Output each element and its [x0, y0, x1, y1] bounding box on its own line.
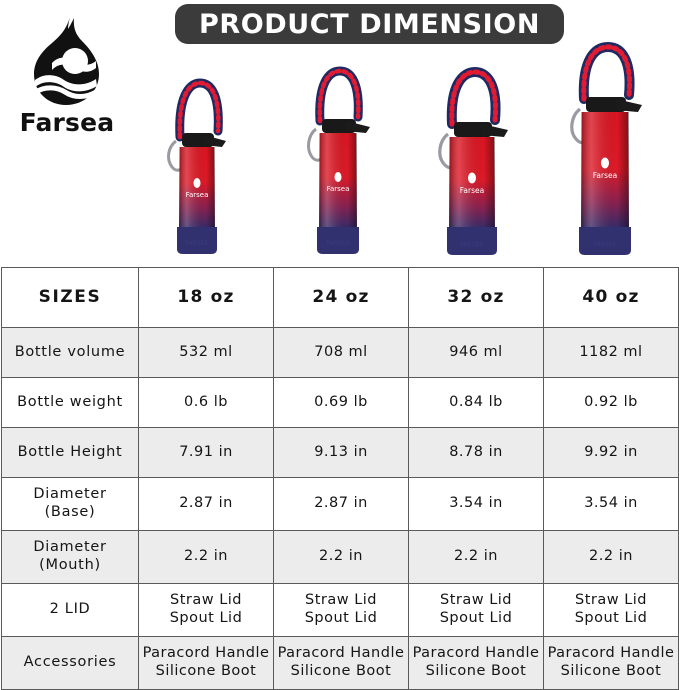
banner: PRODUCT DIMENSION [175, 4, 564, 44]
table-cell: Straw Lid Spout Lid [409, 584, 544, 637]
product-image-24oz: Farsea FARSEA [298, 59, 378, 259]
table-cell: Straw Lid Spout Lid [139, 584, 274, 637]
svg-text:FARSEA: FARSEA [327, 240, 351, 247]
bottle-illustration: Farsea FARSEA [558, 41, 650, 259]
column-header-18oz: 18 oz [139, 268, 274, 328]
table-cell: 0.92 lb [544, 378, 679, 428]
column-header-sizes: SIZES [2, 268, 139, 328]
table-row: 2 LID Straw Lid Spout Lid Straw Lid Spou… [2, 584, 679, 637]
bottle-illustration: Farsea FARSEA [428, 54, 516, 259]
header-area: Farsea PRODUCT DIMENSION [0, 0, 679, 267]
svg-text:Farsea: Farsea [460, 186, 484, 195]
product-image-40oz: Farsea FARSEA [558, 41, 650, 259]
water-droplet-wave-icon [30, 16, 104, 108]
table-cell: 708 ml [274, 328, 409, 378]
column-header-32oz: 32 oz [409, 268, 544, 328]
table-cell: Straw Lid Spout Lid [544, 584, 679, 637]
table-cell: 2.2 in [274, 531, 409, 584]
svg-text:Farsea: Farsea [327, 185, 350, 193]
product-dimension-table: SIZES 18 oz 24 oz 32 oz 40 oz Bottle vol… [1, 267, 679, 690]
table-cell: 8.78 in [409, 428, 544, 478]
table-cell: 3.54 in [409, 478, 544, 531]
table-cell: 946 ml [409, 328, 544, 378]
table-cell: 3.54 in [544, 478, 679, 531]
product-image-32oz: Farsea FARSEA [428, 54, 516, 259]
table-cell: 0.6 lb [139, 378, 274, 428]
row-label: Bottle volume [2, 328, 139, 378]
table-row: Bottle weight 0.6 lb 0.69 lb 0.84 lb 0.9… [2, 378, 679, 428]
table-cell: 2.87 in [274, 478, 409, 531]
table-cell: 2.2 in [139, 531, 274, 584]
table-row: Diameter (Mouth) 2.2 in 2.2 in 2.2 in 2.… [2, 531, 679, 584]
table-row: Bottle volume 532 ml 708 ml 946 ml 1182 … [2, 328, 679, 378]
brand-logo: Farsea [12, 16, 122, 141]
column-header-40oz: 40 oz [544, 268, 679, 328]
table-cell: 9.13 in [274, 428, 409, 478]
svg-text:Farsea: Farsea [593, 171, 617, 180]
table-row: Diameter (Base) 2.87 in 2.87 in 3.54 in … [2, 478, 679, 531]
column-header-24oz: 24 oz [274, 268, 409, 328]
product-image-18oz: Farsea FARSEA [160, 59, 234, 259]
table-cell: 2.2 in [409, 531, 544, 584]
brand-wordmark: Farsea [20, 110, 115, 135]
row-label: Bottle Height [2, 428, 139, 478]
svg-text:FARSEA: FARSEA [186, 240, 210, 247]
table-cell: 0.84 lb [409, 378, 544, 428]
table-cell: 2.87 in [139, 478, 274, 531]
table-cell: 7.91 in [139, 428, 274, 478]
table-cell: 0.69 lb [274, 378, 409, 428]
row-label: Bottle weight [2, 378, 139, 428]
bottle-illustration: Farsea FARSEA [160, 59, 234, 259]
table-cell: 2.2 in [544, 531, 679, 584]
table-header-row: SIZES 18 oz 24 oz 32 oz 40 oz [2, 268, 679, 328]
row-label: Diameter (Base) [2, 478, 139, 531]
svg-text:Farsea: Farsea [186, 191, 209, 199]
table-cell: 532 ml [139, 328, 274, 378]
svg-text:FARSEA: FARSEA [594, 241, 618, 248]
table-cell: Straw Lid Spout Lid [274, 584, 409, 637]
bottle-illustration: Farsea FARSEA [298, 59, 378, 259]
table-cell: 1182 ml [544, 328, 679, 378]
row-label: 2 LID [2, 584, 139, 637]
svg-text:FARSEA: FARSEA [461, 241, 485, 248]
row-label: Diameter (Mouth) [2, 531, 139, 584]
page-title: PRODUCT DIMENSION [199, 9, 540, 40]
table-cell: 9.92 in [544, 428, 679, 478]
table-row: Bottle Height 7.91 in 9.13 in 8.78 in 9.… [2, 428, 679, 478]
